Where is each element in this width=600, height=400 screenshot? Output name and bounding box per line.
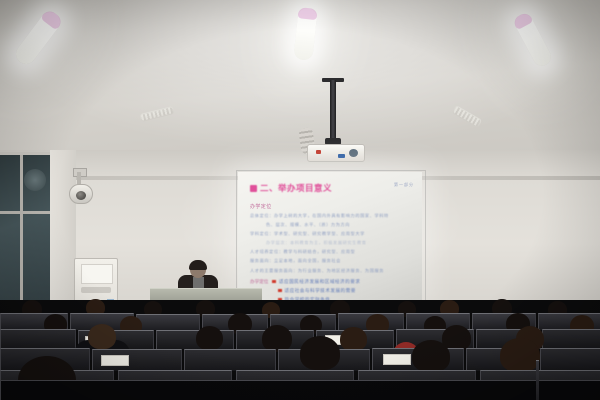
ac-display-panel: [81, 264, 113, 284]
student-head: [300, 336, 340, 370]
window-mullion-vertical: [20, 155, 23, 305]
monitor-back: [136, 314, 200, 330]
projector-status-indicator-icon: [338, 154, 345, 158]
projector-power-indicator-icon: [316, 150, 321, 154]
dome-security-camera-icon: [69, 184, 93, 204]
monitor-back: [92, 349, 182, 371]
student-head: [340, 327, 367, 351]
student-head: [500, 338, 540, 372]
student-head: [262, 325, 292, 352]
foreground-monitor-back: [0, 380, 600, 400]
student-head: [412, 340, 450, 372]
classroom-photo: 二、举办项目意义 第一部分 办学定位 总体定位：办学上树的大学，在国内外具有影响…: [0, 0, 600, 400]
student-head: [88, 324, 116, 349]
monitor-back: [184, 349, 276, 371]
monitor-back: [540, 348, 600, 371]
window-fan-icon: [24, 169, 46, 191]
monitor-back: [0, 329, 76, 349]
projector-mount-pole: [330, 80, 336, 140]
left-window: [0, 152, 53, 308]
projector-body: [307, 144, 365, 162]
desk-divider: [536, 360, 539, 400]
projector-lens-icon: [349, 149, 358, 157]
projection-screen-frame: [236, 170, 426, 304]
presenter-hair: [189, 260, 207, 270]
ac-vent-grill: [81, 287, 111, 293]
student-head: [196, 326, 223, 350]
camera-lens-icon: [76, 191, 86, 200]
monitor-label-tag: [383, 354, 411, 365]
monitor-back: [542, 329, 600, 349]
window-mullion-horizontal: [0, 211, 50, 214]
monitor-label-tag: [101, 355, 129, 366]
